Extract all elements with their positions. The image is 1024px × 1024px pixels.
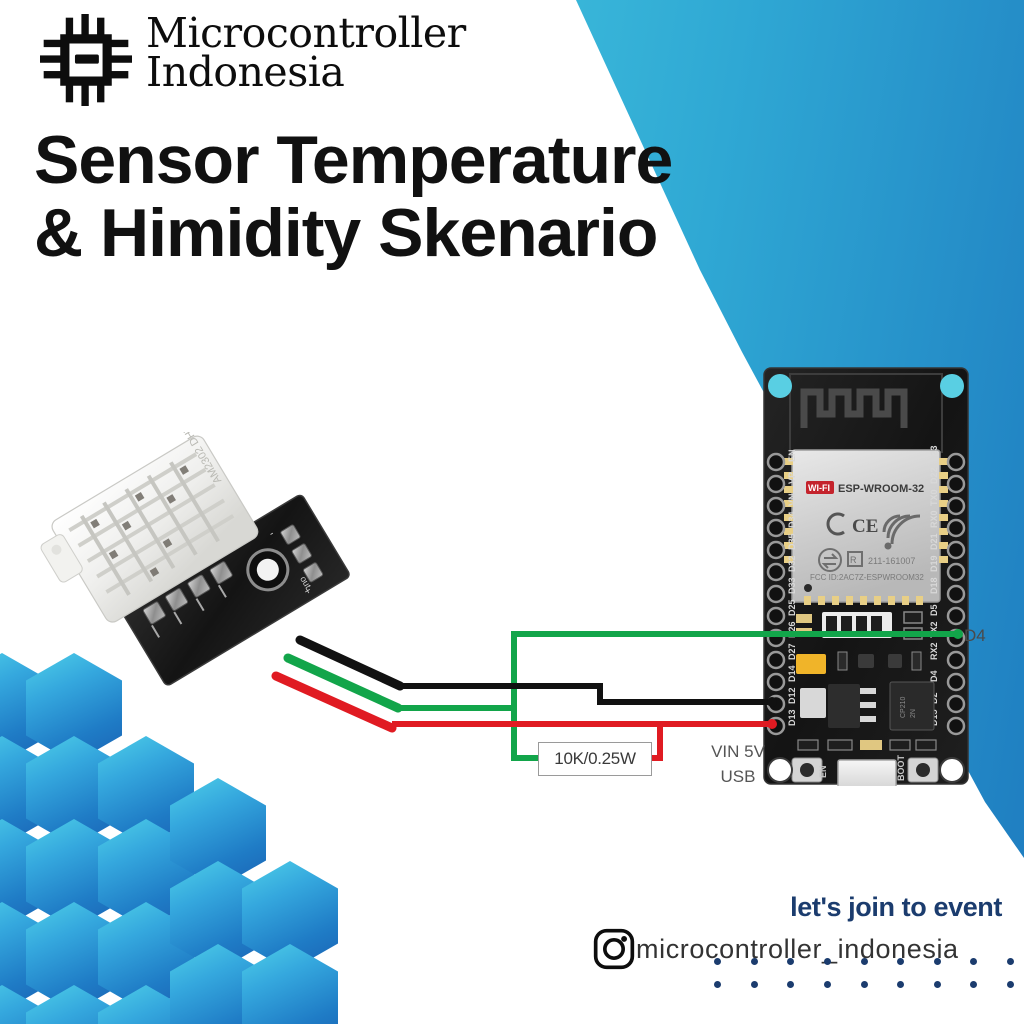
svg-text:R: R: [850, 555, 857, 565]
module-code-text: 211-161007: [868, 556, 915, 566]
svg-text:TX2: TX2: [929, 621, 939, 638]
svg-text:D12: D12: [787, 687, 797, 704]
svg-text:RX2: RX2: [929, 642, 939, 660]
svg-text:D18: D18: [929, 577, 939, 594]
svg-text:RX0: RX0: [929, 510, 939, 528]
svg-text:D25: D25: [787, 599, 797, 616]
wifi-badge-text: WI-FI: [808, 483, 830, 493]
svg-text:D26: D26: [787, 621, 797, 638]
svg-text:CP210: CP210: [900, 696, 907, 718]
svg-text:D22: D22: [929, 467, 939, 484]
svg-text:2N: 2N: [910, 709, 917, 718]
svg-text:D14: D14: [787, 665, 797, 682]
module-label-text: ESP-WROOM-32: [838, 483, 924, 495]
svg-text:VP: VP: [787, 472, 797, 484]
dot-row-1: [714, 958, 1014, 965]
wire-ground-to-gnd: [400, 686, 772, 702]
brand-logo: Microcontroller Indonesia: [38, 14, 466, 106]
svg-text:D13: D13: [787, 709, 797, 726]
dht22-sensor-module: out + -: [32, 432, 362, 732]
title-line-1: Sensor Temperature: [34, 124, 824, 197]
svg-text:D32: D32: [787, 555, 797, 572]
brand-line-2: Indonesia: [146, 53, 466, 92]
svg-text:D23: D23: [929, 445, 939, 462]
svg-text:D34: D34: [787, 511, 797, 528]
cta-text: let's join to event: [592, 892, 1012, 923]
microchip-icon: [38, 14, 134, 106]
svg-text:VN: VN: [787, 493, 797, 506]
decorative-dot-grid: [714, 958, 1014, 1004]
brand-text: Microcontroller Indonesia: [146, 14, 466, 92]
d4-pin-callout: D4: [964, 626, 986, 646]
title-line-2: & Himidity Skenario: [34, 197, 824, 270]
fcc-id-text: FCC ID:2AC7Z-ESPWROOM32: [810, 573, 924, 582]
page-title: Sensor Temperature & Himidity Skenario: [34, 124, 824, 271]
svg-text:TX0: TX0: [929, 489, 939, 506]
ce-mark-text: CE: [852, 516, 878, 537]
svg-text:D21: D21: [929, 533, 939, 550]
en-button-label: EN: [818, 765, 828, 778]
poster-canvas: Microcontroller Indonesia Sensor Tempera…: [0, 0, 1024, 1024]
svg-text:D4: D4: [929, 670, 939, 682]
svg-text:EN: EN: [787, 449, 797, 462]
pullup-resistor-label: 10K/0.25W: [538, 742, 652, 776]
svg-text:D35: D35: [787, 533, 797, 550]
esp32-devkit-board: WI-FI ESP-WROOM-32 CE R 211-161007 FCC I…: [762, 366, 970, 786]
instagram-icon[interactable]: [592, 927, 636, 971]
svg-text:D33: D33: [787, 577, 797, 594]
wire-pullup-green-leg: [514, 708, 540, 758]
svg-text:D19: D19: [929, 555, 939, 572]
power-source-note: VIN 5V USB: [690, 740, 786, 789]
svg-text:D5: D5: [929, 604, 939, 616]
svg-text:D27: D27: [787, 643, 797, 660]
dot-row-2: [714, 981, 1014, 988]
power-note-line-1: VIN 5V: [690, 740, 786, 765]
power-note-line-2: USB: [690, 765, 786, 790]
boot-button-label: BOOT: [896, 754, 906, 781]
